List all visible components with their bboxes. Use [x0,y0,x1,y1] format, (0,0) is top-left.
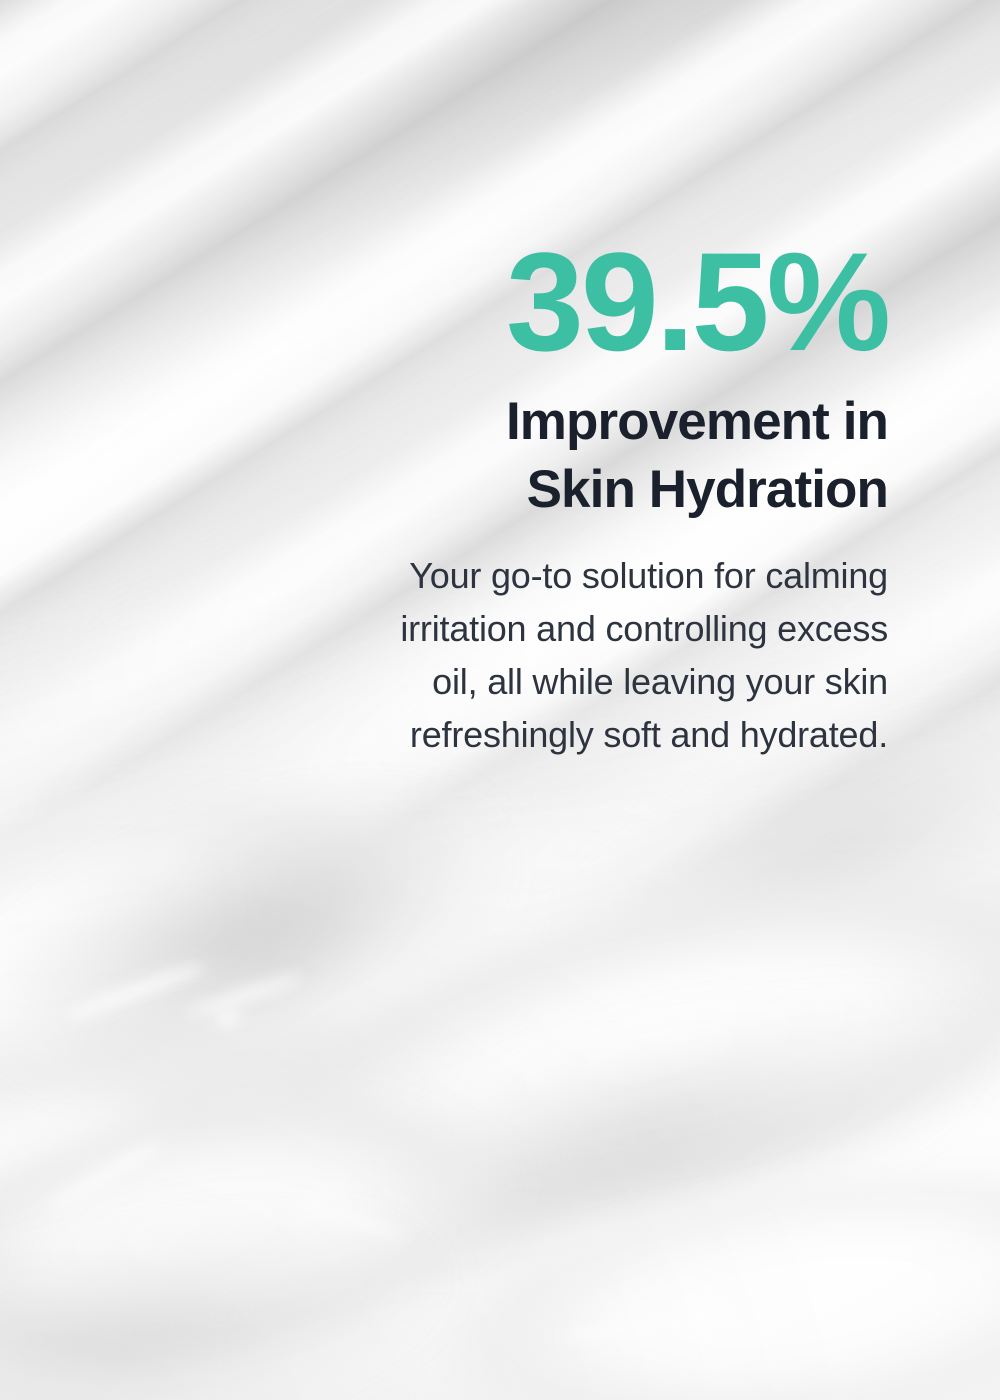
headline-line-2: Skin Hydration [0,456,888,524]
description-paragraph: Your go-to solution for calming irritati… [0,549,888,761]
description-line-2: irritation and controlling excess [0,602,888,655]
promo-card: 39.5% Improvement in Skin Hydration Your… [0,0,1000,1400]
text-block: 39.5% Improvement in Skin Hydration Your… [0,0,888,761]
page-title: Improvement in Skin Hydration [0,388,888,524]
description-line-3: oil, all while leaving your skin [0,655,888,708]
description-line-1: Your go-to solution for calming [0,549,888,602]
headline-line-1: Improvement in [0,388,888,456]
description-line-4: refreshingly soft and hydrated. [0,708,888,761]
stat-percentage: 39.5% [0,232,888,372]
